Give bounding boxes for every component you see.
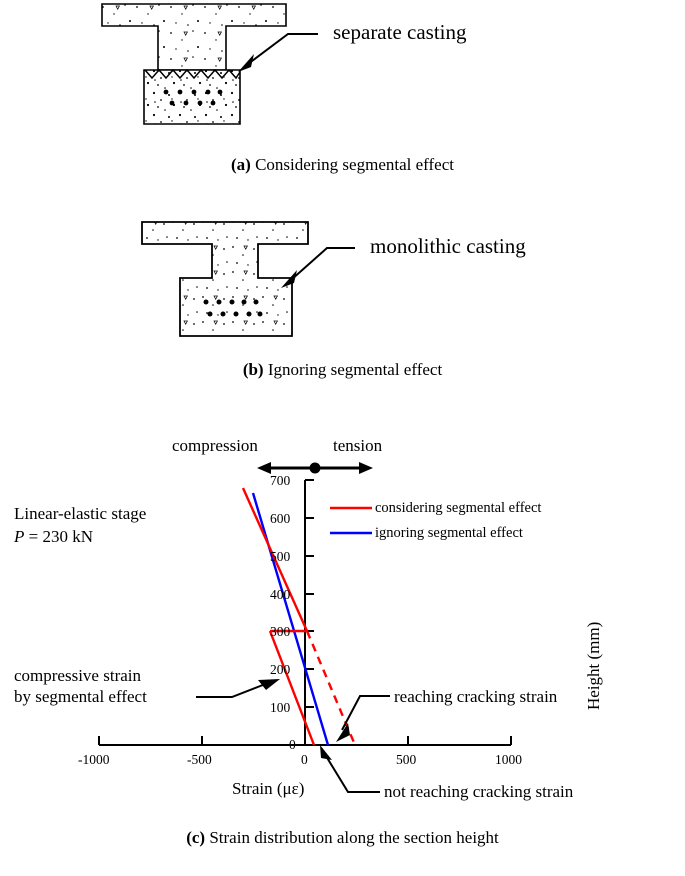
y-axis-title: Height (mm) [584, 622, 604, 710]
panel-a-caption: (a) Considering segmental effect [0, 155, 685, 175]
reaching-cracking-leader-arrow [342, 696, 390, 730]
y-tick-500: 500 [270, 549, 290, 565]
legend-label-ignoring: ignoring segmental effect [375, 525, 523, 542]
y-tick-100: 100 [270, 700, 290, 716]
x-tick-500: 500 [396, 752, 416, 768]
monolithic-casting-leader-arrow [255, 240, 365, 290]
not-reaching-cracking-leader-arrow [326, 756, 380, 792]
x-axis-title: Strain (με) [232, 778, 304, 799]
separate-casting-label: separate casting [333, 22, 467, 43]
y-tick-300: 300 [270, 624, 290, 640]
compressive-strain-note: compressive strain by segmental effect [14, 665, 147, 708]
panel-b-tag: (b) [243, 360, 264, 379]
not-reaching-cracking-arrowhead [320, 745, 332, 760]
y-tick-0: 0 [289, 737, 296, 753]
compressive-strain-leader-arrow [196, 683, 268, 697]
panel-a-caption-text: Considering segmental effect [255, 155, 454, 174]
series-ignoring-segmental-effect [253, 493, 328, 745]
reaching-cracking-note: reaching cracking strain [394, 686, 557, 707]
separate-casting-leader-arrow [218, 26, 328, 74]
panel-a-tag: (a) [231, 155, 251, 174]
x-tick-neg1000: -1000 [78, 752, 110, 768]
compressive-strain-arrowhead [258, 679, 280, 690]
y-tick-400: 400 [270, 587, 290, 603]
not-reaching-cracking-note: not reaching cracking strain [384, 781, 573, 802]
x-tick-0: 0 [301, 752, 308, 768]
reaching-cracking-arrowhead [336, 723, 350, 742]
compressive-strain-note-line2: by segmental effect [14, 686, 147, 707]
panel-c-caption: (c) Strain distribution along the sectio… [0, 828, 685, 848]
compressive-strain-note-line1: compressive strain [14, 665, 147, 686]
monolithic-casting-label: monolithic casting [370, 236, 526, 257]
panel-b-caption: (b) Ignoring segmental effect [0, 360, 685, 380]
panel-c-caption-text: Strain distribution along the section he… [209, 828, 498, 847]
panel-a-considering-segmental-effect: separate casting (a) Considering segment… [0, 0, 685, 195]
x-tick-1000: 1000 [495, 752, 522, 768]
panel-c-strain-chart: compression tension Linear-elastic stage… [0, 400, 685, 876]
x-tick-neg500: -500 [187, 752, 212, 768]
y-tick-200: 200 [270, 662, 290, 678]
panel-c-tag: (c) [186, 828, 205, 847]
series-considering-lower [270, 631, 314, 745]
legend-label-considering: considering segmental effect [375, 500, 541, 517]
y-tick-600: 600 [270, 511, 290, 527]
strain-plot [0, 400, 685, 800]
panel-b-caption-text: Ignoring segmental effect [268, 360, 442, 379]
y-tick-700: 700 [270, 473, 290, 489]
panel-b-ignoring-segmental-effect: monolithic casting (b) Ignoring segmenta… [0, 200, 685, 400]
